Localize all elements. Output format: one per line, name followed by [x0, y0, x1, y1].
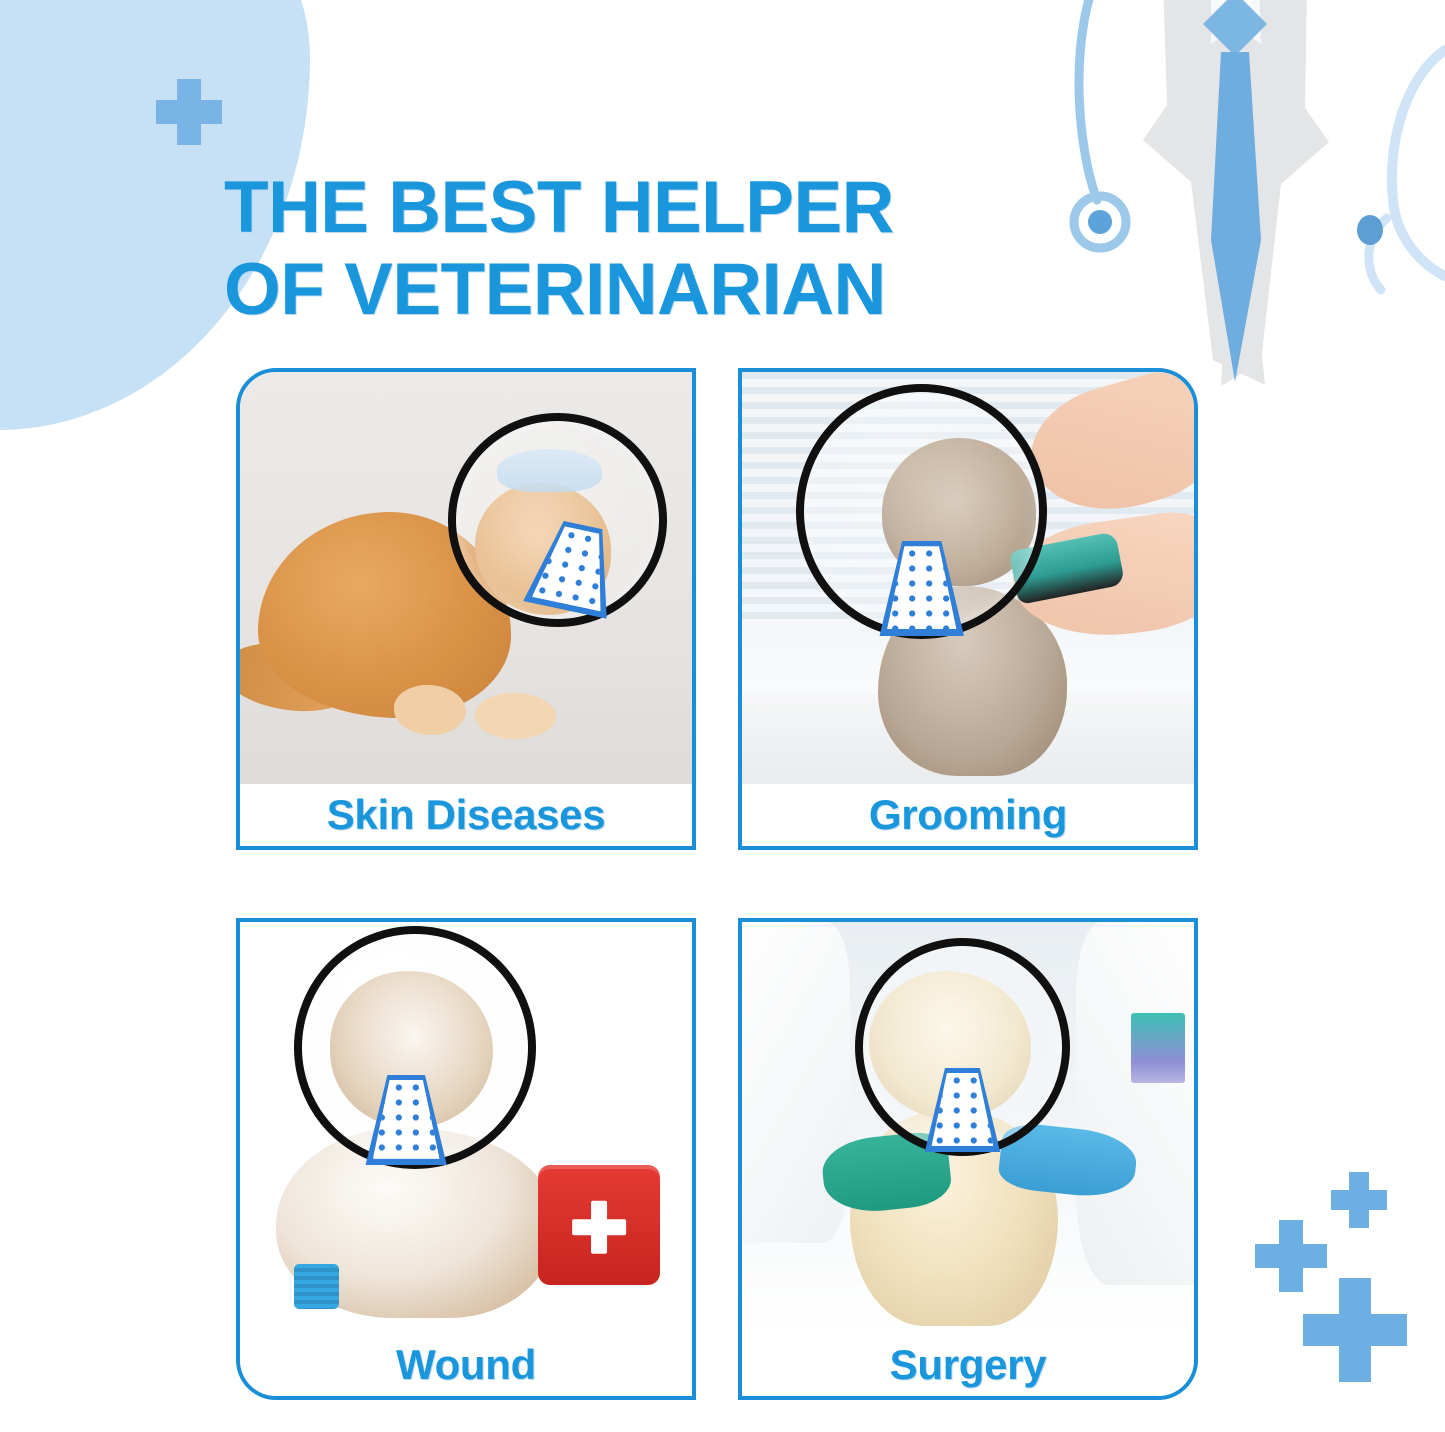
- collar-neck-pad: [523, 516, 625, 619]
- cross-small-icon: [1331, 1172, 1387, 1228]
- card-image-surgery: [742, 922, 1194, 1334]
- collar-pad-dots: [887, 546, 956, 629]
- tie-knot: [1203, 0, 1267, 56]
- card-image-wound: [240, 922, 692, 1334]
- card-caption-surgery: Surgery: [742, 1334, 1194, 1396]
- stethoscope-icon-right: [1357, 50, 1445, 290]
- card-caption-wound: Wound: [240, 1334, 692, 1396]
- cat-paw-front: [394, 685, 466, 734]
- bandaged-paw: [294, 1264, 339, 1309]
- collar-pad-dots: [373, 1080, 440, 1159]
- card-caption-skin-diseases: Skin Diseases: [240, 784, 692, 846]
- cross-large-icon: [1303, 1278, 1407, 1382]
- cat-forehead-highlight: [497, 449, 603, 493]
- vet-chest-pocket: [1131, 1013, 1185, 1083]
- recovery-collar-cone: [796, 384, 1047, 639]
- coat-right-lapel: [1221, 0, 1333, 386]
- vet-coat-right: [1076, 922, 1194, 1285]
- feature-card-skin-diseases[interactable]: Skin Diseases: [236, 368, 696, 850]
- feature-card-grid: Skin Diseases Grooming: [236, 368, 1198, 1400]
- card-label: Grooming: [869, 791, 1067, 839]
- collar-neck-pad: [925, 1068, 1001, 1153]
- plus-icon: [156, 79, 222, 145]
- page-title-line-1: THE BEST HELPER: [224, 167, 1084, 249]
- collar-neck-pad: [366, 1075, 447, 1166]
- feature-card-surgery[interactable]: Surgery: [738, 918, 1198, 1400]
- coat-left-lapel: [1135, 0, 1265, 385]
- page-title-line-2: OF VETERINARIAN: [224, 249, 1084, 331]
- collar-pad-dots: [931, 1073, 993, 1147]
- page-title: THE BEST HELPER OF VETERINARIAN: [224, 167, 1084, 331]
- first-aid-kit: [538, 1165, 660, 1284]
- card-label: Surgery: [890, 1341, 1047, 1389]
- cat-paw-rear: [475, 693, 556, 738]
- recovery-collar-cone: [448, 413, 667, 627]
- decorative-crosses-group: [1227, 1156, 1417, 1396]
- feature-card-wound[interactable]: Wound: [236, 918, 696, 1400]
- feature-card-grooming[interactable]: Grooming: [738, 368, 1198, 850]
- card-image-skin-diseases: [240, 372, 692, 784]
- card-label: Skin Diseases: [327, 791, 606, 839]
- card-caption-grooming: Grooming: [742, 784, 1194, 846]
- collar-pad-dots: [532, 523, 616, 612]
- collar-neck-pad: [879, 541, 964, 637]
- card-label: Wound: [396, 1341, 536, 1389]
- card-image-grooming: [742, 372, 1194, 784]
- recovery-collar-cone: [855, 938, 1070, 1156]
- recovery-collar-cone: [294, 926, 536, 1169]
- cross-medium-icon: [1255, 1220, 1327, 1292]
- tie-body: [1211, 52, 1261, 382]
